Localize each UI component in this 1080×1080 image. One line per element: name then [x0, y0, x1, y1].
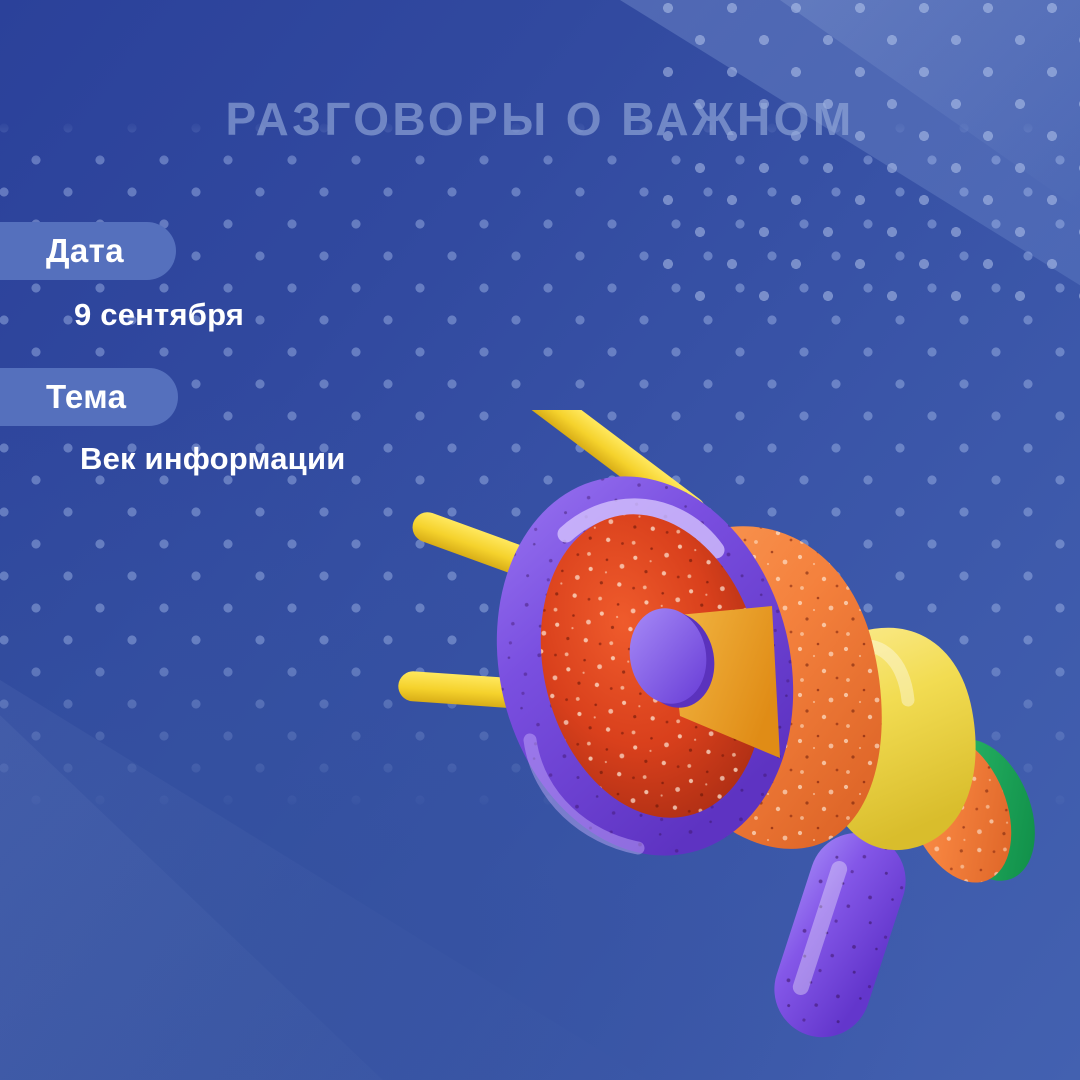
page-title: РАЗГОВОРЫ О ВАЖНОМ [0, 92, 1080, 146]
megaphone-driver-knob [622, 602, 722, 714]
megaphone-illustration [380, 410, 1080, 1050]
label-pill-date: Дата [0, 222, 176, 280]
megaphone-back-barrel [819, 628, 976, 850]
value-date: 9 сентября [74, 297, 244, 333]
megaphone-rear-orange [884, 718, 1031, 899]
value-topic: Век информации [80, 441, 345, 477]
dot-pattern-top-right [660, 0, 1080, 320]
top-right-diagonal-highlight [780, 0, 1080, 300]
megaphone-rim [458, 445, 832, 888]
megaphone-rear-green [914, 724, 1055, 896]
bottom-left-diagonal-accent [0, 430, 840, 1080]
megaphone-cone-interior [510, 490, 794, 841]
bottom-diagonal-band [0, 680, 1080, 1080]
sound-wave-lines [397, 410, 712, 720]
top-right-diagonal-accent [620, 0, 1080, 460]
poster-canvas: РАЗГОВОРЫ О ВАЖНОМ Дата 9 сентября Тема … [0, 0, 1080, 1080]
megaphone-inner-shaft [668, 606, 780, 758]
label-pill-topic: Тема [0, 368, 178, 426]
megaphone-cone-body [644, 526, 882, 849]
megaphone-handle [762, 820, 918, 1049]
